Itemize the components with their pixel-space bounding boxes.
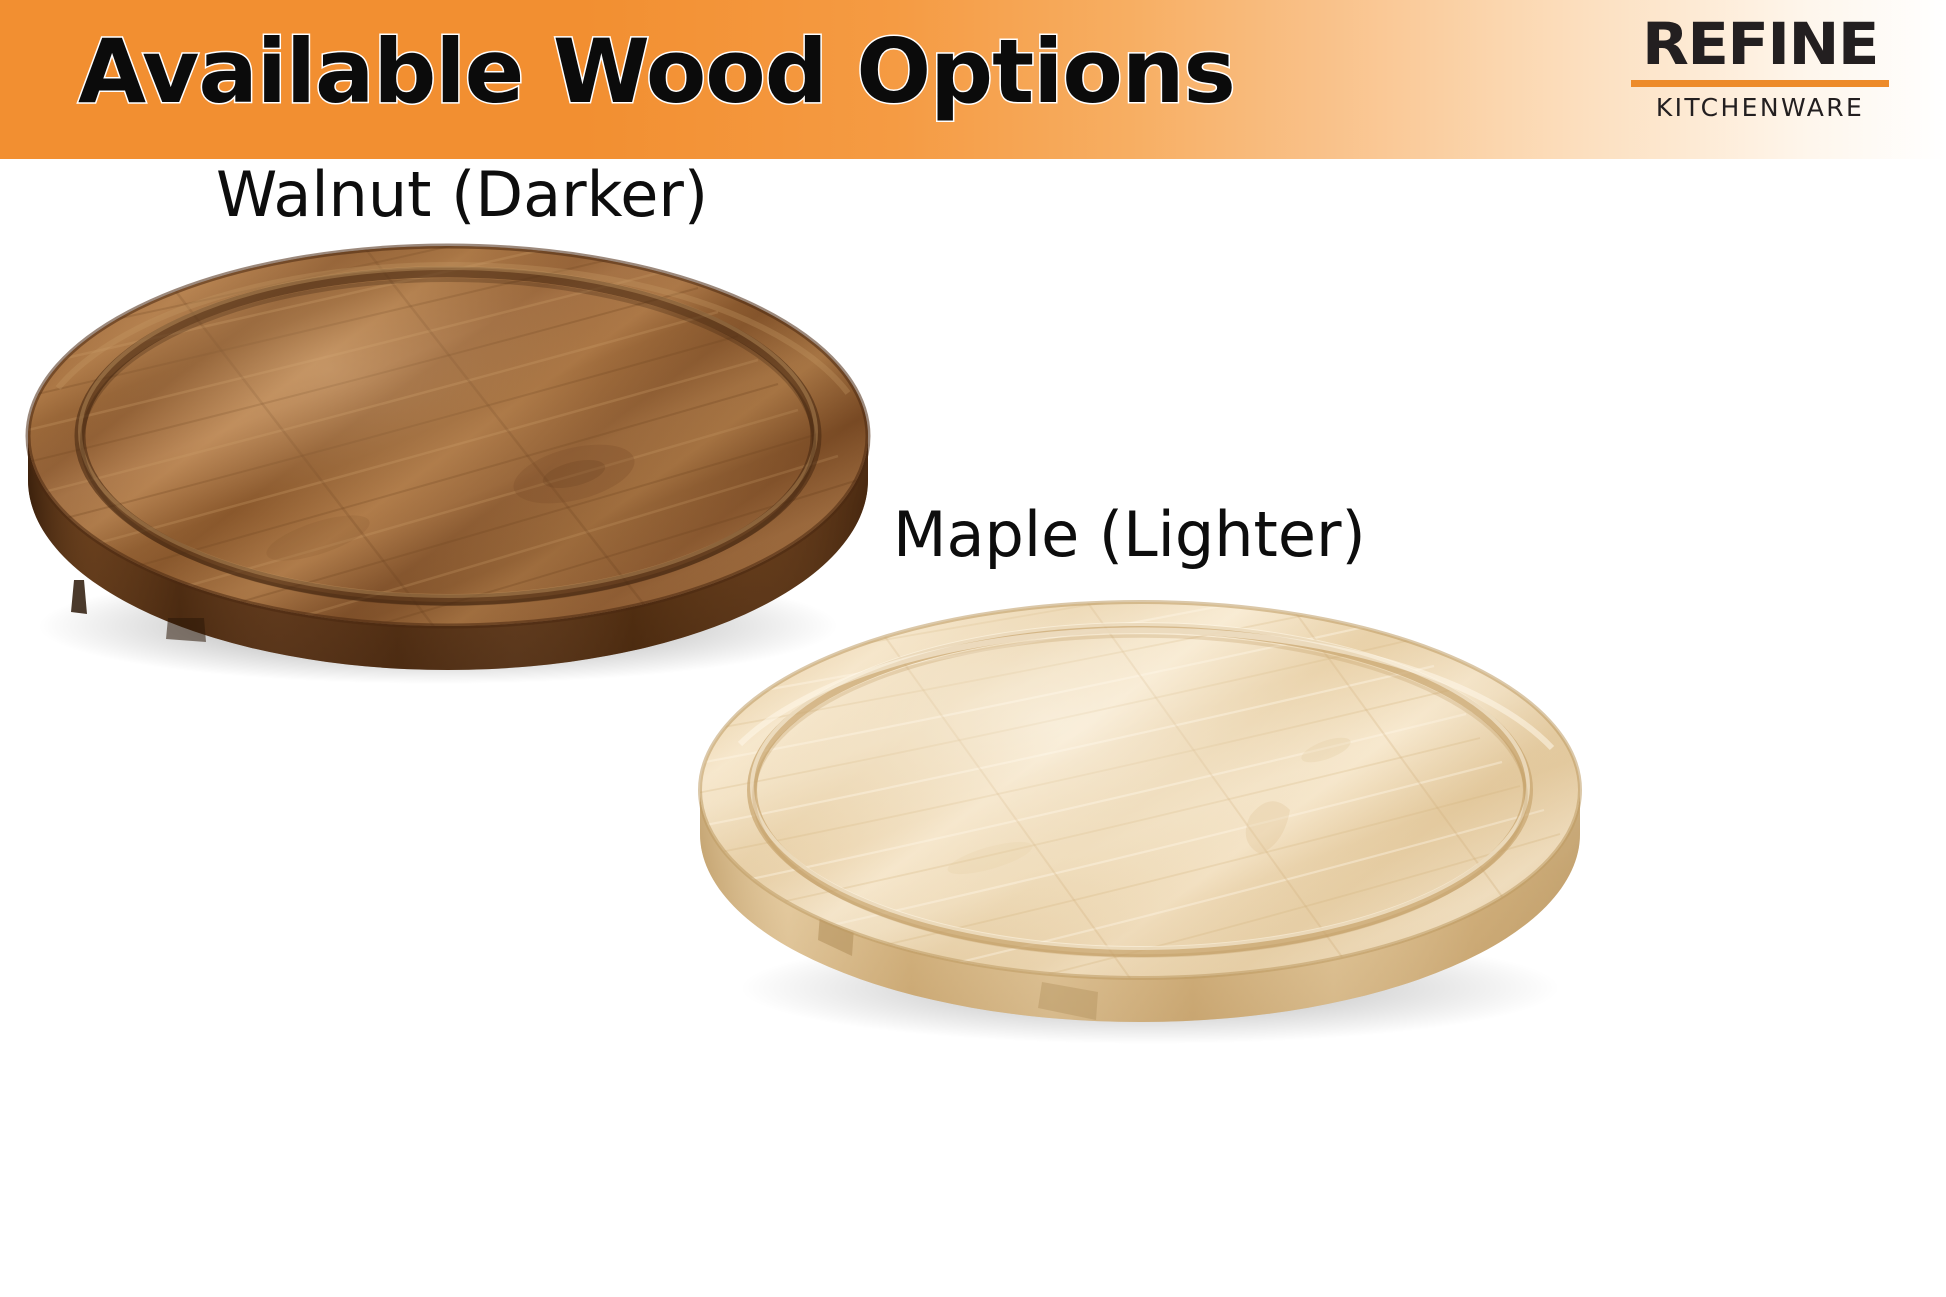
maple-cutting-board-image bbox=[690, 590, 1590, 1060]
product-label-walnut: Walnut (Darker) bbox=[216, 160, 708, 230]
product-label-maple: Maple (Lighter) bbox=[893, 500, 1366, 570]
